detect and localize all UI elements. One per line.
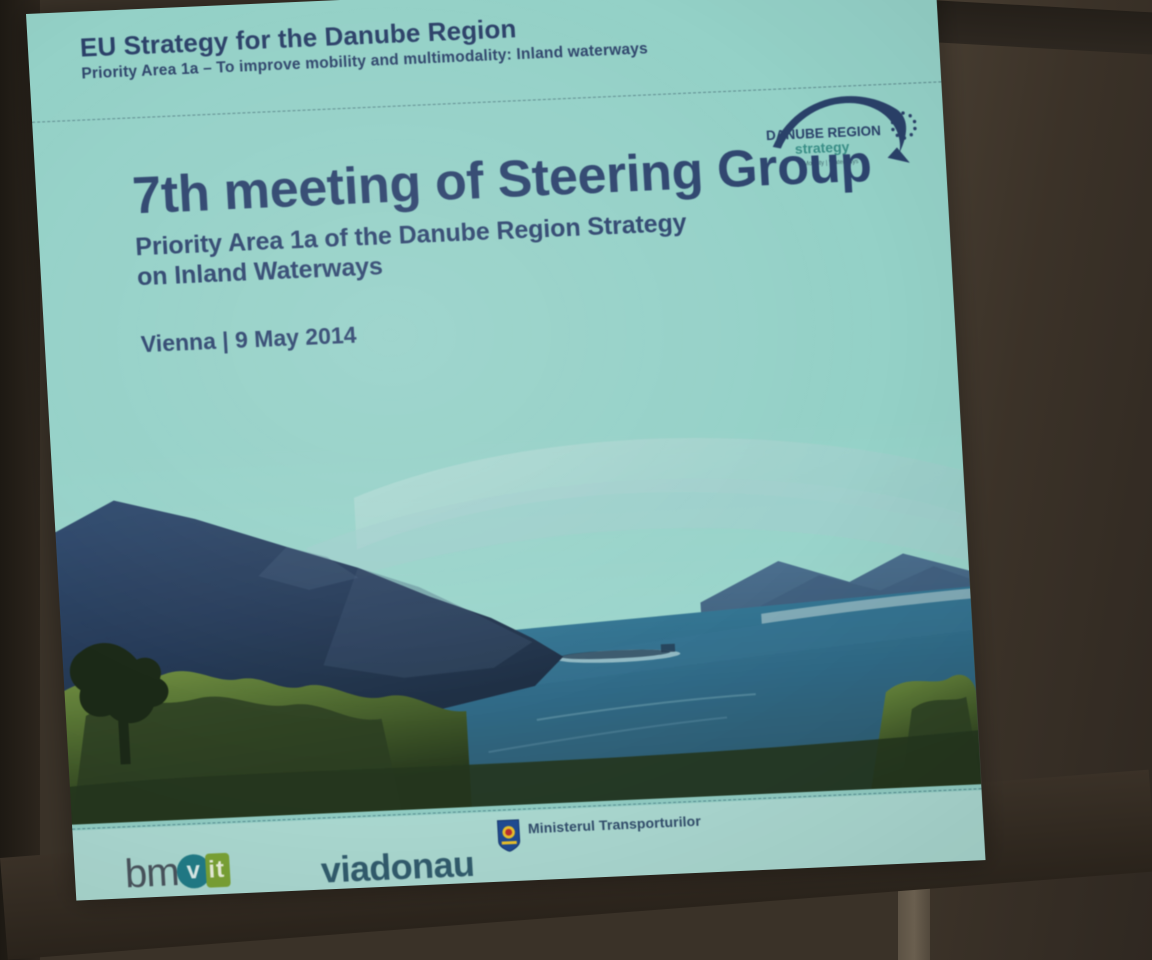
presentation-slide: EU Strategy for the Danube Region Priori… — [26, 0, 986, 901]
slide-title-block: 7th meeting of Steering Group Priority A… — [131, 134, 931, 357]
conference-room-scene: EU Strategy for the Danube Region Priori… — [0, 0, 1152, 960]
bmvit-logo: bm v it — [124, 850, 231, 895]
ministry-label: Ministerul Transporturilor — [528, 813, 702, 837]
viadonau-logo: viadonau — [320, 843, 475, 892]
event-location-date: Vienna | 9 May 2014 — [140, 296, 931, 358]
slide-header: EU Strategy for the Danube Region Priori… — [79, 0, 881, 84]
bmvit-text-part: bm — [124, 852, 180, 894]
romanian-crest-icon — [496, 819, 521, 853]
projection-screen: EU Strategy for the Danube Region Priori… — [26, 0, 986, 913]
danube-landscape-photo — [50, 401, 981, 825]
bmvit-green-letters: it — [204, 853, 231, 888]
ministerul-transporturilor-logo: Ministerul Transporturilor — [496, 811, 702, 853]
